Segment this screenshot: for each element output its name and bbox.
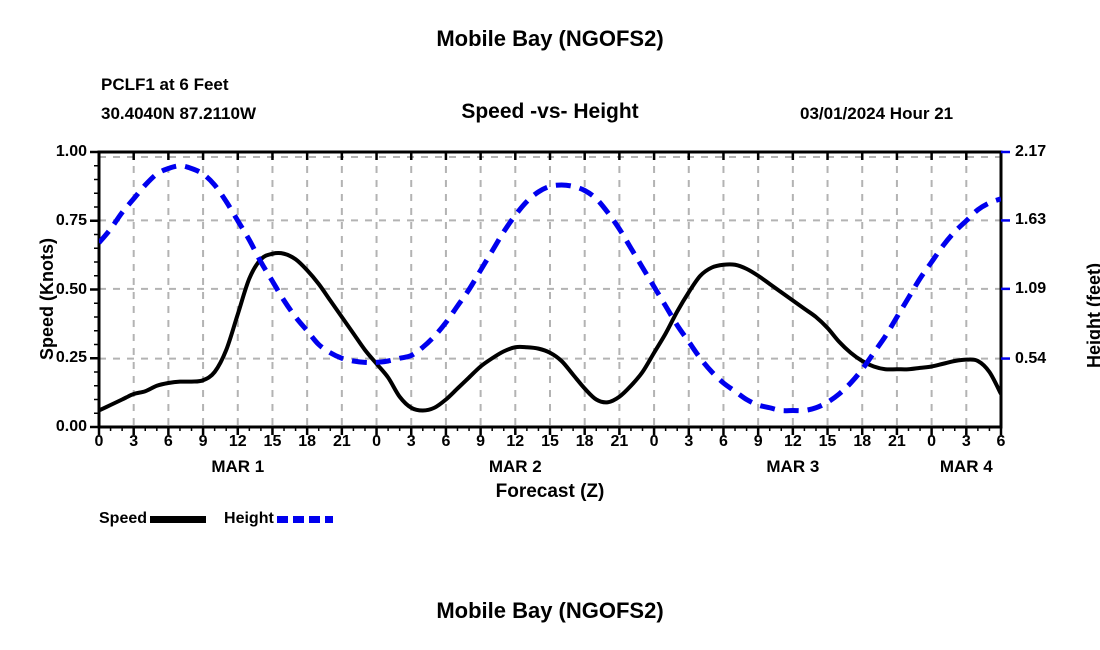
y-tick-label-left: 0.00 xyxy=(33,419,87,435)
legend-swatch-speed xyxy=(150,516,206,523)
legend-label-height: Height xyxy=(224,510,274,528)
x-tick-label: 0 xyxy=(639,434,669,450)
x-tick-label: 15 xyxy=(535,434,565,450)
x-tick-label: 9 xyxy=(466,434,496,450)
x-tick-label: 3 xyxy=(951,434,981,450)
x-tick-label: 3 xyxy=(674,434,704,450)
y-tick-label-left: 0.25 xyxy=(33,350,87,366)
x-tick-label: 12 xyxy=(223,434,253,450)
x-axis-day-label: MAR 2 xyxy=(460,458,570,475)
y-tick-label-left: 0.50 xyxy=(33,282,87,298)
y-tick-label-right: 1.63 xyxy=(1015,212,1069,228)
x-tick-label: 9 xyxy=(188,434,218,450)
y-tick-label-right: 0.54 xyxy=(1015,351,1069,367)
plot-area xyxy=(0,0,1100,650)
x-tick-label: 3 xyxy=(119,434,149,450)
x-tick-label: 21 xyxy=(604,434,634,450)
y-tick-label-right: 1.09 xyxy=(1015,281,1069,297)
x-tick-label: 0 xyxy=(362,434,392,450)
x-tick-label: 18 xyxy=(292,434,322,450)
x-tick-label: 18 xyxy=(847,434,877,450)
legend-entry-height: Height xyxy=(224,510,333,528)
x-tick-label: 15 xyxy=(813,434,843,450)
legend-swatch-height xyxy=(277,516,333,523)
x-tick-label: 21 xyxy=(327,434,357,450)
chart-canvas: Mobile Bay (NGOFS2) PCLF1 at 6 Feet 30.4… xyxy=(0,0,1100,650)
y-tick-label-left: 1.00 xyxy=(33,144,87,160)
y-tick-label-right: 2.17 xyxy=(1015,144,1069,160)
x-tick-label: 3 xyxy=(396,434,426,450)
x-axis-day-label: MAR 4 xyxy=(911,458,1021,475)
y-tick-label-left: 0.75 xyxy=(33,213,87,229)
chart-legend: Speed Height xyxy=(99,508,333,530)
x-tick-label: 0 xyxy=(917,434,947,450)
x-axis-day-label: MAR 3 xyxy=(738,458,848,475)
x-tick-label: 6 xyxy=(431,434,461,450)
data-series-speed xyxy=(99,253,1001,410)
x-tick-label: 6 xyxy=(153,434,183,450)
x-tick-label: 12 xyxy=(778,434,808,450)
x-tick-label: 18 xyxy=(570,434,600,450)
x-tick-label: 9 xyxy=(743,434,773,450)
x-tick-label: 21 xyxy=(882,434,912,450)
x-tick-label: 15 xyxy=(257,434,287,450)
x-axis-day-label: MAR 1 xyxy=(183,458,293,475)
x-tick-label: 12 xyxy=(500,434,530,450)
x-tick-label: 6 xyxy=(708,434,738,450)
legend-label-speed: Speed xyxy=(99,510,147,528)
x-tick-label: 6 xyxy=(986,434,1016,450)
legend-entry-speed: Speed xyxy=(99,510,206,528)
page-title-bottom: Mobile Bay (NGOFS2) xyxy=(0,600,1100,622)
x-tick-label: 0 xyxy=(84,434,114,450)
